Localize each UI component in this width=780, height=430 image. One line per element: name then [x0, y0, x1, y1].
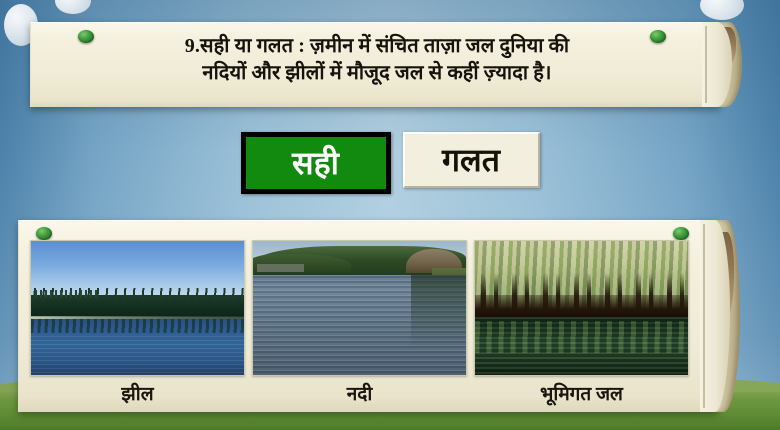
- answer-buttons: सही गलत: [0, 132, 780, 194]
- river-photo: [252, 240, 467, 376]
- gallery-panel: झील नदी: [18, 220, 718, 412]
- decor-blob-center: [55, 0, 91, 14]
- scroll-curl-question: [702, 22, 758, 107]
- question-text: 9.सही या गलत : ज़मीन में संचित ताज़ा जल …: [58, 33, 696, 87]
- question-line-1: 9.सही या गलत : ज़मीन में संचित ताज़ा जल …: [58, 33, 696, 60]
- scroll-curl-gallery: [700, 220, 756, 412]
- gallery-item-groundwater[interactable]: भूमिगत जल: [475, 240, 688, 406]
- lake-photo: [30, 240, 245, 376]
- pin-top-left-gallery: [36, 227, 52, 240]
- question-line-2: नदियों और झीलों में मौजूद जल से कहीं ज़्…: [58, 60, 696, 87]
- gallery-item-lake[interactable]: झील: [31, 240, 244, 406]
- river-caption: नदी: [347, 380, 373, 406]
- lake-caption: झील: [121, 380, 153, 406]
- decor-blob-right: [700, 0, 744, 20]
- groundwater-caption: भूमिगत जल: [540, 380, 623, 406]
- pin-top-right-gallery: [673, 227, 689, 240]
- gallery-item-river[interactable]: नदी: [253, 240, 466, 406]
- gallery-row: झील नदी: [31, 240, 688, 406]
- answer-false-button[interactable]: गलत: [403, 132, 540, 188]
- question-number: 9.: [185, 35, 200, 57]
- question-panel: 9.सही या गलत : ज़मीन में संचित ताज़ा जल …: [30, 22, 720, 107]
- answer-true-button[interactable]: सही: [241, 132, 391, 194]
- groundwater-photo: [474, 240, 689, 376]
- quiz-screen: 9.सही या गलत : ज़मीन में संचित ताज़ा जल …: [0, 0, 780, 430]
- question-line-1-text: सही या गलत : ज़मीन में संचित ताज़ा जल दु…: [200, 35, 569, 57]
